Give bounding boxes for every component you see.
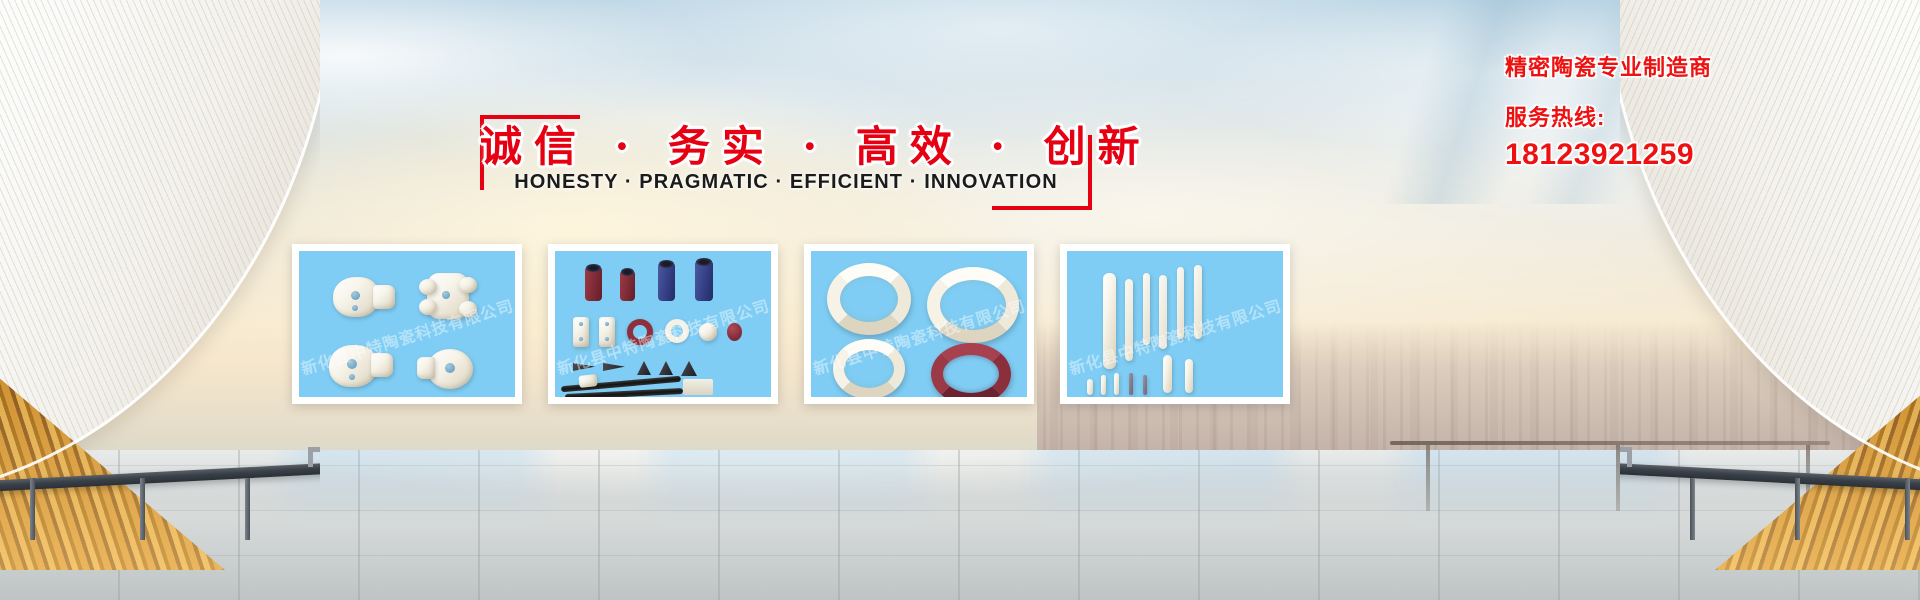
ceramic-disc <box>699 323 717 341</box>
ceramic-washer-white <box>665 319 689 343</box>
ceramic-insulator-neck <box>371 353 393 377</box>
ceramic-tube-blue <box>658 263 675 301</box>
ceramic-rod-tiny <box>1101 375 1106 395</box>
handrail-post <box>1795 478 1800 540</box>
handrail-post <box>140 478 145 540</box>
handrail-post <box>1905 478 1910 540</box>
panel-stage <box>1067 251 1283 397</box>
ceramic-tube-red <box>620 271 635 301</box>
ceramic-ring-large <box>927 267 1019 343</box>
ceramic-flower-lobe <box>419 299 437 315</box>
left-canopy-structure <box>0 0 320 600</box>
ceramic-tube-red <box>585 267 602 301</box>
terminal-tip <box>659 361 673 375</box>
insulator-hole <box>349 374 355 380</box>
insulator-hole <box>352 305 358 311</box>
insulator-hole <box>347 359 357 369</box>
ceramic-insulator-neck <box>373 285 395 309</box>
plate-hole <box>605 337 609 341</box>
slogan-block: 诚信 · 务实 · 高效 · 创新 HONESTY · PRAGMATIC · … <box>480 105 1092 210</box>
ceramic-flower-lobe <box>459 277 477 293</box>
contact-block: 精密陶瓷专业制造商 服务热线: 18123921259 <box>1505 50 1835 172</box>
railing-post <box>1426 445 1430 511</box>
plate-hole <box>605 322 609 326</box>
ceramic-rod <box>1159 275 1167 349</box>
terminal-tip <box>603 363 625 371</box>
ceramic-rod <box>1177 267 1184 339</box>
handrail-post <box>30 478 35 540</box>
wire-connector <box>683 379 713 395</box>
hotline-phone-number[interactable]: 18123921259 <box>1505 138 1835 172</box>
ceramic-washer-red <box>627 319 653 345</box>
canopy-edge-highlight <box>0 0 320 500</box>
handrail-bracket <box>1620 447 1632 452</box>
ceramic-rod-short <box>1185 359 1193 393</box>
handrail-bracket <box>308 447 320 452</box>
wire-ferrule <box>578 374 597 388</box>
ceramic-rod <box>1194 265 1202 339</box>
product-panel-tubes[interactable]: 新化县中特陶瓷科技有限公司 <box>548 244 778 404</box>
terminal-tip <box>573 363 595 371</box>
panel-stage <box>299 251 515 397</box>
ceramic-rod <box>1125 279 1133 361</box>
terminal-tip <box>681 361 697 376</box>
product-panel-row: 新化县中特陶瓷科技有限公司 <box>292 244 1290 404</box>
hotline-label: 服务热线: <box>1505 100 1835 132</box>
plate-hole <box>579 322 583 326</box>
ceramic-ring-small <box>833 339 905 399</box>
ceramic-rod-dark <box>1143 375 1147 395</box>
slogan-chinese: 诚信 · 务实 · 高效 · 创新 <box>480 113 1092 174</box>
ceramic-ring-red <box>931 343 1011 404</box>
handrail-post <box>245 478 250 540</box>
ceramic-rod-tiny <box>1114 373 1119 395</box>
terminal-tip <box>637 361 651 375</box>
ceramic-insulator-neck <box>417 357 435 379</box>
ceramic-flower-lobe <box>459 301 477 317</box>
product-panel-rods[interactable]: 新化县中特陶瓷科技有限公司 <box>1060 244 1290 404</box>
ceramic-rod <box>1143 273 1150 345</box>
ceramic-rod-short <box>1163 355 1172 393</box>
ceramic-tube-blue <box>695 261 713 301</box>
ceramic-flower-lobe <box>419 279 437 295</box>
ceramic-rod-thick <box>1103 273 1116 369</box>
slogan-english: HONESTY · PRAGMATIC · EFFICIENT · INNOVA… <box>480 171 1092 194</box>
ceramic-rod-tiny <box>1087 379 1093 395</box>
product-panel-rings[interactable]: 新化县中特陶瓷科技有限公司 <box>804 244 1034 404</box>
company-tagline: 精密陶瓷专业制造商 <box>1505 50 1835 82</box>
panel-stage <box>555 251 771 397</box>
ceramic-bead-red <box>727 323 742 341</box>
insulator-hole <box>445 363 455 373</box>
promo-banner: 诚信 · 务实 · 高效 · 创新 HONESTY · PRAGMATIC · … <box>0 0 1920 600</box>
insulator-hole <box>442 291 450 299</box>
panel-stage <box>811 251 1027 397</box>
ceramic-ring-large <box>827 263 911 335</box>
handrail-post <box>1690 478 1695 540</box>
insulator-hole <box>351 291 360 300</box>
product-panel-insulators[interactable]: 新化县中特陶瓷科技有限公司 <box>292 244 522 404</box>
ceramic-rod-dark <box>1129 373 1133 395</box>
plate-hole <box>579 337 583 341</box>
